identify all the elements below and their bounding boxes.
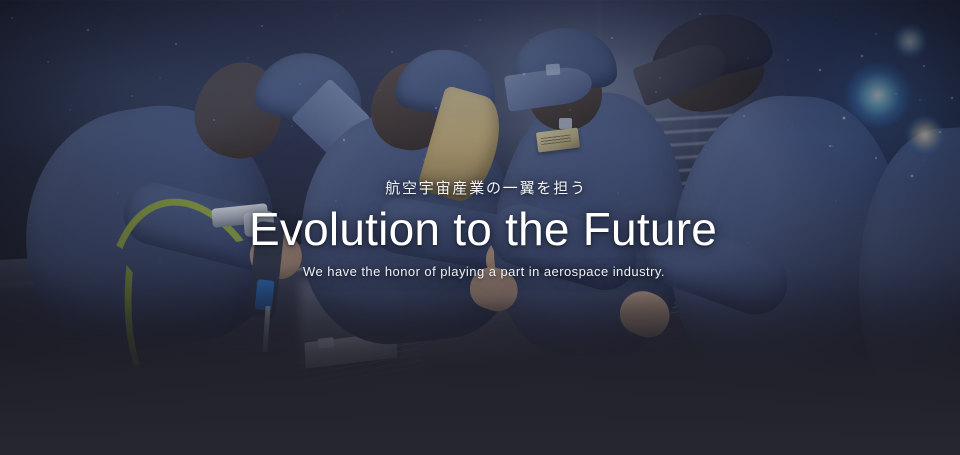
hero-kicker: 航空宇宙産業の一翼を担う (0, 180, 960, 198)
bottom-fade (0, 295, 960, 455)
hero-copy: 航空宇宙産業の一翼を担う Evolution to the Future We … (0, 180, 960, 281)
hero-subline: We have the honor of playing a part in a… (0, 264, 960, 281)
hero-headline: Evolution to the Future (0, 205, 960, 254)
hero-banner: 航空宇宙産業の一翼を担う Evolution to the Future We … (0, 0, 960, 455)
